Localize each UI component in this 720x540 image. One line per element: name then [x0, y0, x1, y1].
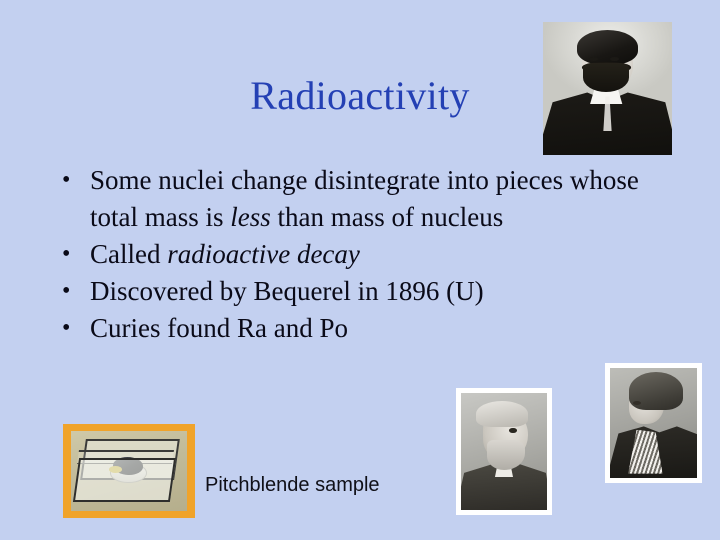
- portrait-marie-curie-image: [610, 368, 697, 478]
- pitchblende-caption: Pitchblende sample: [205, 472, 380, 498]
- list-item: • Called radioactive decay: [52, 236, 672, 273]
- bullet-dot-icon: •: [62, 162, 86, 199]
- pierre-hair: [476, 401, 528, 427]
- portrait-marie-curie: [605, 363, 702, 483]
- bullet-1-text: Some nuclei change disintegrate into pie…: [90, 162, 672, 236]
- becquerel-beard: [583, 63, 629, 92]
- pitchblende-image: [71, 431, 187, 511]
- portrait-becquerel-image: [543, 22, 672, 155]
- portrait-pierre-curie: [456, 388, 552, 515]
- list-item: • Curies found Ra and Po: [52, 310, 672, 347]
- list-item: • Discovered by Bequerel in 1896 (U): [52, 273, 672, 310]
- glass-case-front-panel: [73, 458, 176, 502]
- emphasis-radioactive-decay: radioactive decay: [167, 239, 360, 269]
- portrait-becquerel: [543, 22, 672, 155]
- pierre-eye: [509, 428, 517, 433]
- pitchblende-sample-photo: [63, 424, 195, 518]
- list-item: • Some nuclei change disintegrate into p…: [52, 162, 672, 236]
- bullet-dot-icon: •: [62, 236, 86, 273]
- bullet-2-text: Called radioactive decay: [90, 236, 672, 273]
- bullet-4-text: Curies found Ra and Po: [90, 310, 672, 347]
- portrait-pierre-curie-image: [461, 393, 547, 510]
- bullet-dot-icon: •: [62, 310, 86, 347]
- becquerel-hair: [577, 30, 639, 65]
- bullet-3-text: Discovered by Bequerel in 1896 (U): [90, 273, 672, 310]
- emphasis-less: less: [230, 202, 271, 232]
- slide-canvas: Radioactivity • Some nuclei change disin…: [0, 0, 720, 540]
- bullet-dot-icon: •: [62, 273, 86, 310]
- bullet-list: • Some nuclei change disintegrate into p…: [52, 162, 672, 347]
